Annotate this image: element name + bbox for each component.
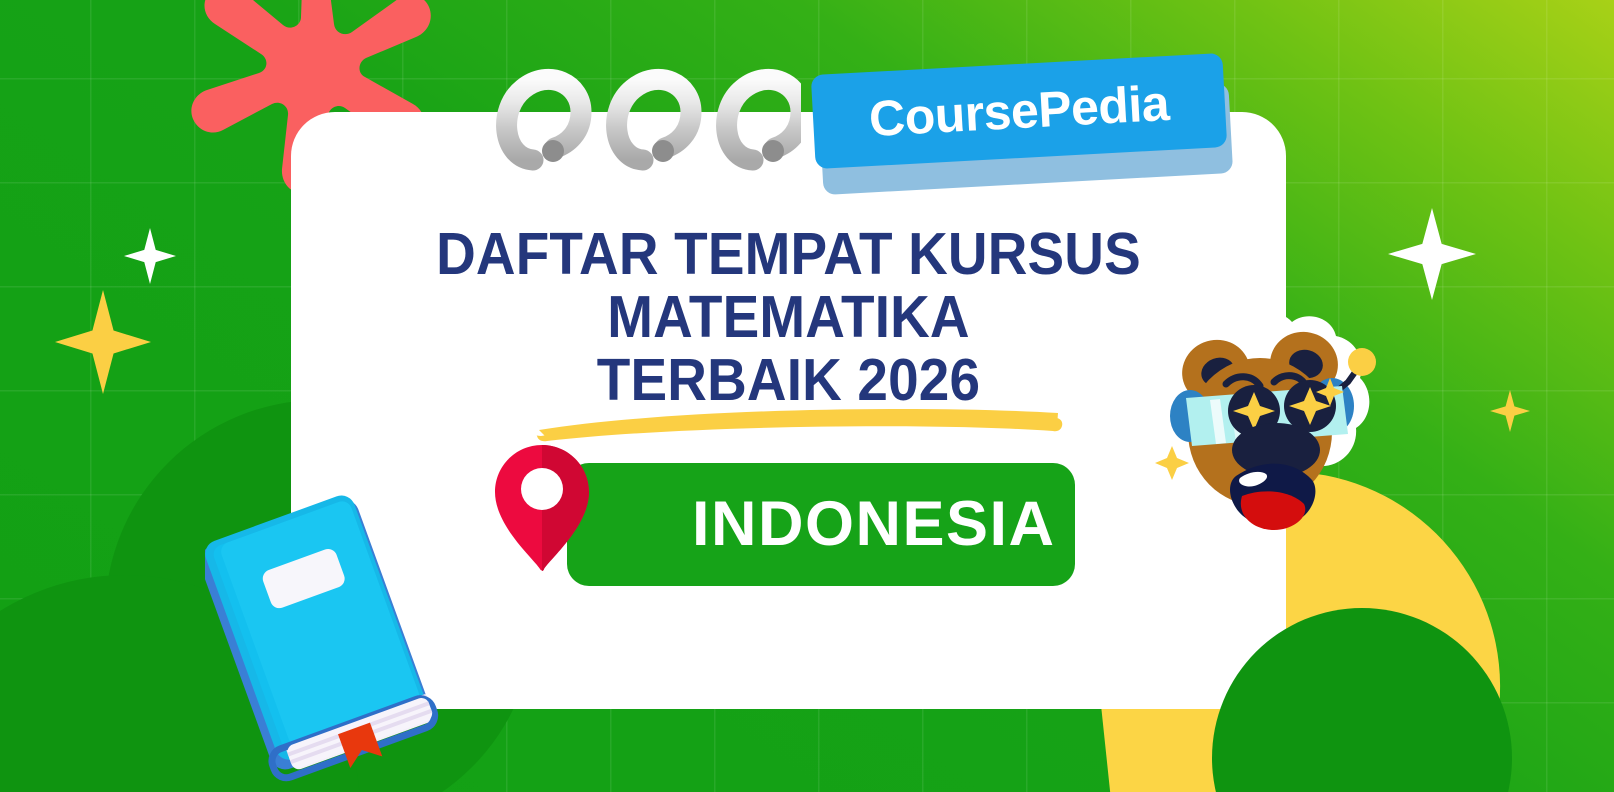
page-title-line-2: MATEMATIKA	[326, 286, 1251, 349]
page-title-line-1: DAFTAR TEMPAT KURSUS	[326, 223, 1251, 286]
brand-badge[interactable]: CoursePedia	[813, 64, 1233, 189]
location-label: INDONESIA	[692, 493, 1056, 556]
sparkle-yellow-large-icon	[55, 290, 151, 394]
promo-banner: CoursePedia DAFTAR TEMPAT KURSUS MATEMAT…	[0, 0, 1614, 792]
page-title-line-3: TERBAIK 2026	[326, 349, 1251, 412]
bear-mascot-sticker-icon	[1128, 300, 1390, 542]
location-pill[interactable]: INDONESIA	[567, 463, 1075, 586]
sparkle-white-large-icon	[1388, 208, 1476, 300]
sparkle-yellow-small-icon	[1490, 390, 1530, 432]
yellow-swoosh-underline	[535, 408, 1063, 442]
map-pin-icon	[492, 443, 592, 573]
blue-book-icon	[205, 495, 445, 785]
spiral-binder-rings-icon	[489, 58, 801, 173]
brand-name: CoursePedia	[868, 78, 1170, 144]
